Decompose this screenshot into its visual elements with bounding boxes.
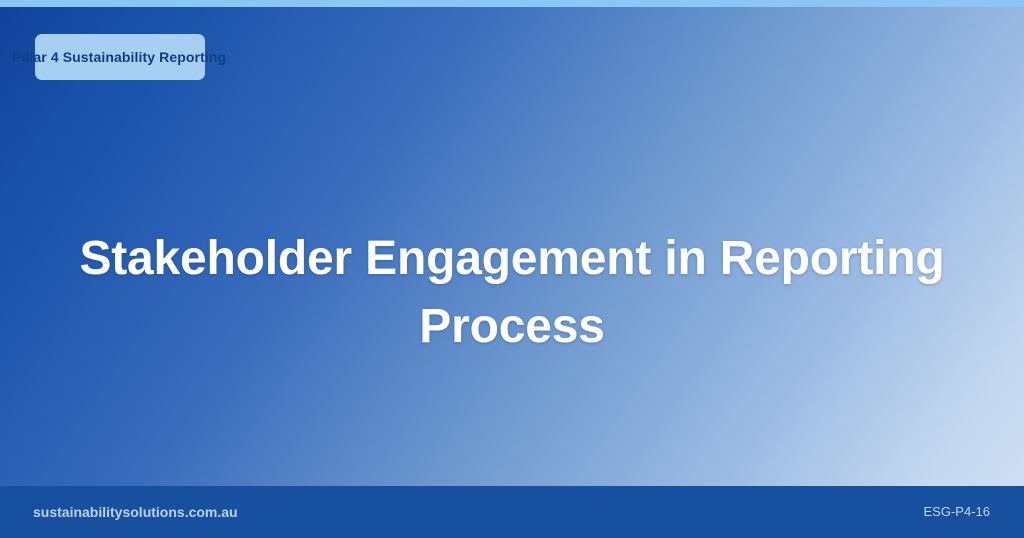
pillar-label: Pillar 4 Sustainability Reporting — [12, 34, 226, 80]
presentation-slide: Pillar 4 Sustainability Reporting Stakeh… — [0, 0, 1024, 538]
footer-website-url[interactable]: sustainabilitysolutions.com.au — [33, 486, 238, 538]
slide-footer: sustainabilitysolutions.com.au ESG-P4-16 — [0, 486, 1024, 538]
eyebrow-section: Pillar 4 Sustainability Reporting — [0, 34, 400, 80]
footer-slide-code: ESG-P4-16 — [924, 486, 990, 538]
top-accent-bar — [0, 0, 1024, 7]
slide-title: Stakeholder Engagement in Reporting Proc… — [0, 225, 1024, 361]
